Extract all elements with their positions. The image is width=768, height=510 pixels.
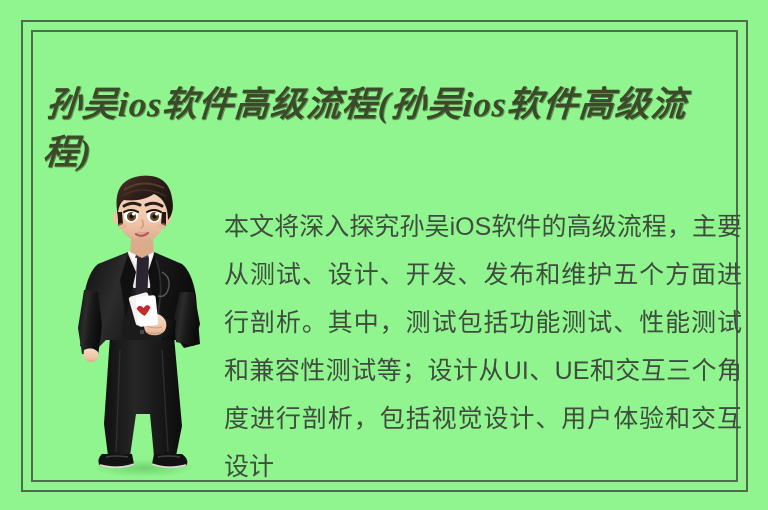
figure-blush-right xyxy=(157,223,167,229)
poster-card: 孙吴ios软件高级流程(孙吴ios软件高级流程) 穿黑色西装手持扑克牌的3D卡通… xyxy=(0,0,768,510)
figure-trousers xyxy=(104,336,182,456)
figure-blush-left xyxy=(117,223,127,229)
page-title: 孙吴ios软件高级流程(孙吴ios软件高级流程) xyxy=(41,81,720,177)
suit-man-with-cards-illustration: 穿黑色西装手持扑克牌的3D卡通男性人物 xyxy=(58,168,230,480)
figure-eye-glint-left xyxy=(132,213,135,216)
figure-eye-glint-right xyxy=(155,213,158,216)
article-body: 本文将深入探究孙吴iOS软件的高级流程，主要从测试、设计、开发、发布和维护五个方… xyxy=(224,203,742,491)
figure-arm-left xyxy=(78,290,102,356)
figure-vest-button-2 xyxy=(140,330,144,334)
